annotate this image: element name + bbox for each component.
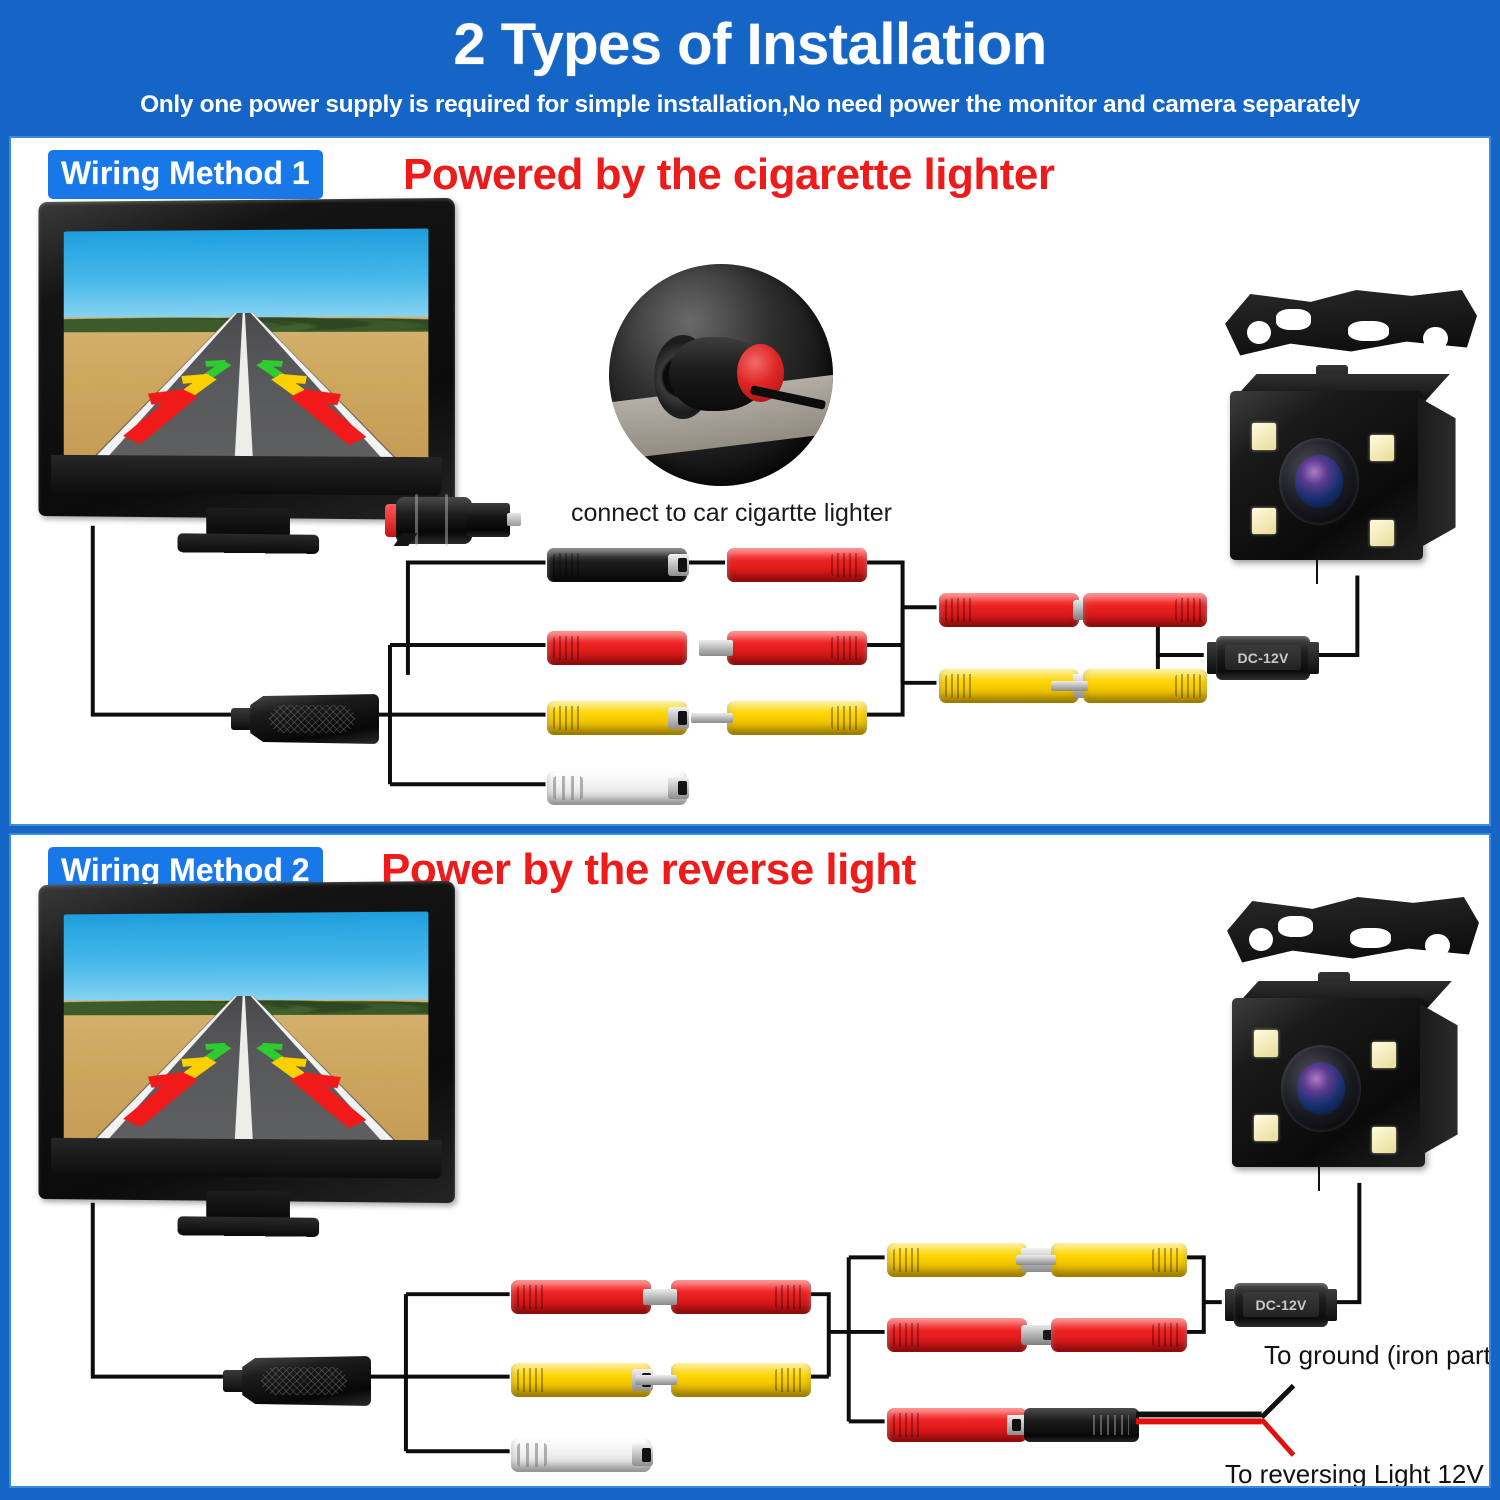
backup-camera-1 [1209,286,1477,578]
camera-lens-2 [1281,1045,1361,1133]
dc-module-label-2: DC-12V [1255,1297,1306,1313]
camera-led-3 [1252,508,1276,534]
monitor-screen-2 [64,912,428,1144]
reverse-light-annotation-label: To reversing Light 12V [1225,1459,1484,1488]
camera-led-8 [1372,1127,1396,1153]
page-title: 2 Types of Installation [0,0,1500,84]
dc-12v-module-1: DC-12V [1207,636,1319,680]
white-audio-female-connector-1 [547,771,687,805]
rear-view-monitor-2 [35,883,453,1201]
ground-annotation-label: To ground (iron part) [1264,1340,1491,1371]
yellow-video-female-connector-3 [511,1363,651,1397]
red-power-male-connector-4 [887,1318,1027,1352]
parking-guide-lines-2 [64,912,428,1144]
wiring-method-1-title: Powered by the cigarette lighter [403,148,1055,202]
black-dc-terminal-connector [1011,1408,1139,1442]
yellow-video-male-connector-3 [671,1363,811,1397]
camera-led-2 [1370,435,1394,461]
camera-led-5 [1254,1030,1278,1056]
black-dc-female-connector-1 [547,548,687,582]
yellow-video-male-connector-4 [887,1243,1027,1277]
rear-view-monitor-1 [35,200,453,518]
red-power-female-connector-4 [511,1280,651,1314]
red-power-female-connector-6 [1051,1318,1187,1352]
page-header: 2 Types of Installation Only one power s… [0,0,1500,136]
red-power-male-connector-3 [671,1280,811,1314]
yellow-video-male-connector-1 [727,701,867,735]
red-power-female-connector-5 [887,1408,1027,1442]
yellow-video-female-connector-4 [1051,1243,1187,1277]
red-power-male-connector-2 [939,593,1079,627]
camera-led-7 [1254,1115,1278,1141]
dc-12v-module-2: DC-12V [1225,1283,1337,1327]
monitor-stand-base-2 [178,1216,320,1237]
red-power-female-connector-2 [727,548,867,582]
wiring-method-1-badge: Wiring Method 1 [48,150,323,199]
backup-camera-2 [1211,893,1479,1185]
camera-led-1 [1252,423,1276,449]
yellow-video-female-connector-2 [1083,669,1207,703]
red-power-female-connector-1 [547,631,687,665]
dc-module-label-1: DC-12V [1237,650,1288,666]
wiring-method-2-title: Power by the reverse light [381,843,916,897]
red-power-male-connector-1 [727,631,867,665]
monitor-stand-base-1 [178,533,320,554]
parking-guide-lines-1 [64,229,428,461]
monitor-cable-splitter-1 [231,694,379,744]
page-subtitle: Only one power supply is required for si… [0,84,1500,122]
red-power-female-connector-3 [1083,593,1207,627]
yellow-video-female-connector-1 [547,701,687,735]
monitor-screen-1 [64,229,428,461]
camera-led-6 [1372,1042,1396,1068]
white-audio-female-connector-2 [511,1438,651,1472]
camera-lens-1 [1279,438,1359,526]
monitor-cable-splitter-2 [223,1356,371,1406]
cigarette-lighter-plug [385,490,521,550]
wiring-method-1-panel: Wiring Method 1 Powered by the cigarette… [9,136,1491,826]
lighter-caption: connect to car cigartte lighter [571,498,892,528]
wiring-method-2-panel: Wiring Method 2 Power by the reverse lig… [9,833,1491,1488]
camera-led-4 [1370,520,1394,546]
cigarette-lighter-socket-photo [609,264,833,486]
